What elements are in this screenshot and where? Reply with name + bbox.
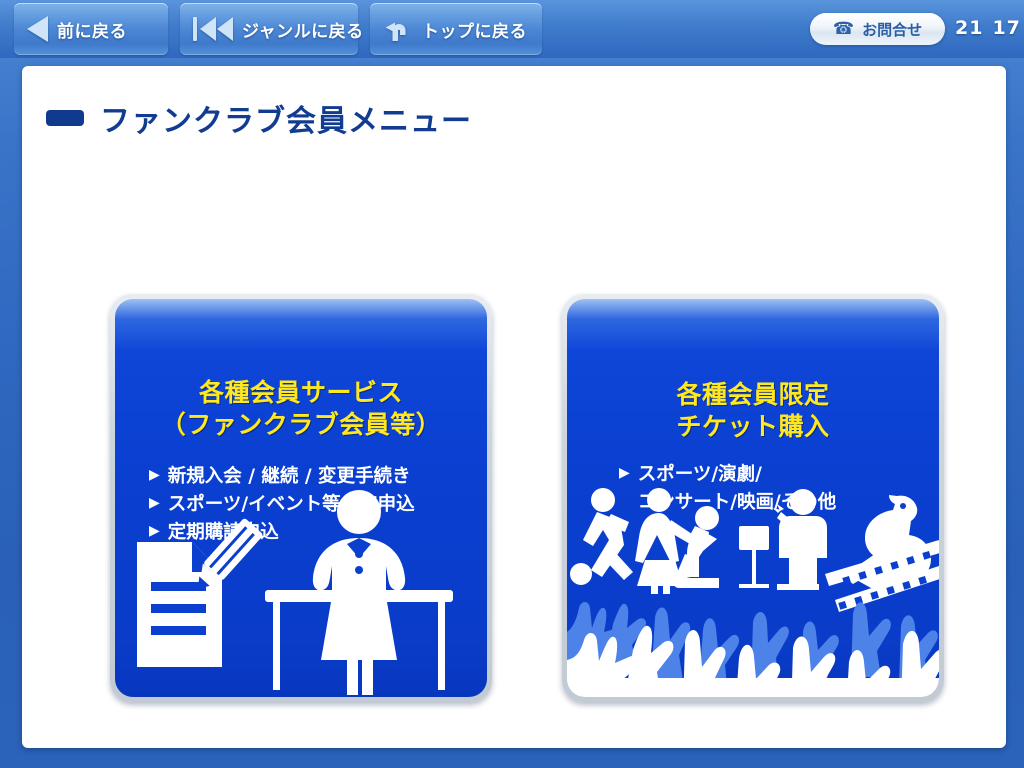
card-member-services[interactable]: 各種会員サービス （ファンクラブ会員等） ▶ 新規入会 / 継続 / 変更手続き… [110,294,492,702]
card-member-services-inner: 各種会員サービス （ファンクラブ会員等） ▶ 新規入会 / 継続 / 変更手続き… [115,299,487,697]
clock-hours: 21 [955,17,983,39]
back-button[interactable]: 前に戻る [14,3,168,55]
page-title: ファンクラブ会員メニュー [100,96,472,140]
page-title-row: ファンクラブ会員メニュー [46,96,472,140]
back-to-genre-button[interactable]: ジャンルに戻る [180,3,358,55]
card-member-services-title-line2: （ファンクラブ会員等） [115,409,487,441]
title-marker [46,110,84,126]
document-pencil-clerk-desk-icon [115,482,487,697]
card-member-services-title-line1: 各種会員サービス [115,377,487,409]
card-member-services-title: 各種会員サービス （ファンクラブ会員等） [115,377,487,441]
u-turn-arrow-icon [383,16,413,42]
content-panel: ファンクラブ会員メニュー 各種会員サービス （ファンクラブ会員等） ▶ 新規入会… [22,66,1006,748]
card-member-tickets-title: 各種会員限定 チケット購入 [567,379,939,443]
back-button-label: 前に戻る [57,17,127,42]
back-to-top-button[interactable]: トップに戻る [370,3,542,55]
skip-back-icon [193,17,233,41]
contact-button[interactable]: ☎ お問合せ [810,13,945,45]
triangle-left-icon [27,16,48,42]
phone-icon: ☎ [833,21,854,38]
sports-theater-concert-movie-crowd-icon [567,482,939,697]
clock-minutes: 17 [992,17,1020,39]
card-member-tickets-title-line2: チケット購入 [567,411,939,443]
contact-button-label: お問合せ [862,19,922,40]
top-navigation-bar: 前に戻る ジャンルに戻る トップに戻る ☎ お問合せ 21 17 [0,0,1024,58]
card-member-tickets[interactable]: 各種会員限定 チケット購入 ▶ スポーツ/演劇/ コンサート/映画/その他 [562,294,944,702]
back-to-genre-button-label: ジャンルに戻る [242,17,364,42]
card-member-tickets-title-line1: 各種会員限定 [567,379,939,411]
card-member-tickets-inner: 各種会員限定 チケット購入 ▶ スポーツ/演劇/ コンサート/映画/その他 [567,299,939,697]
back-to-top-button-label: トップに戻る [422,17,527,42]
clock: 21 17 [955,17,1021,39]
